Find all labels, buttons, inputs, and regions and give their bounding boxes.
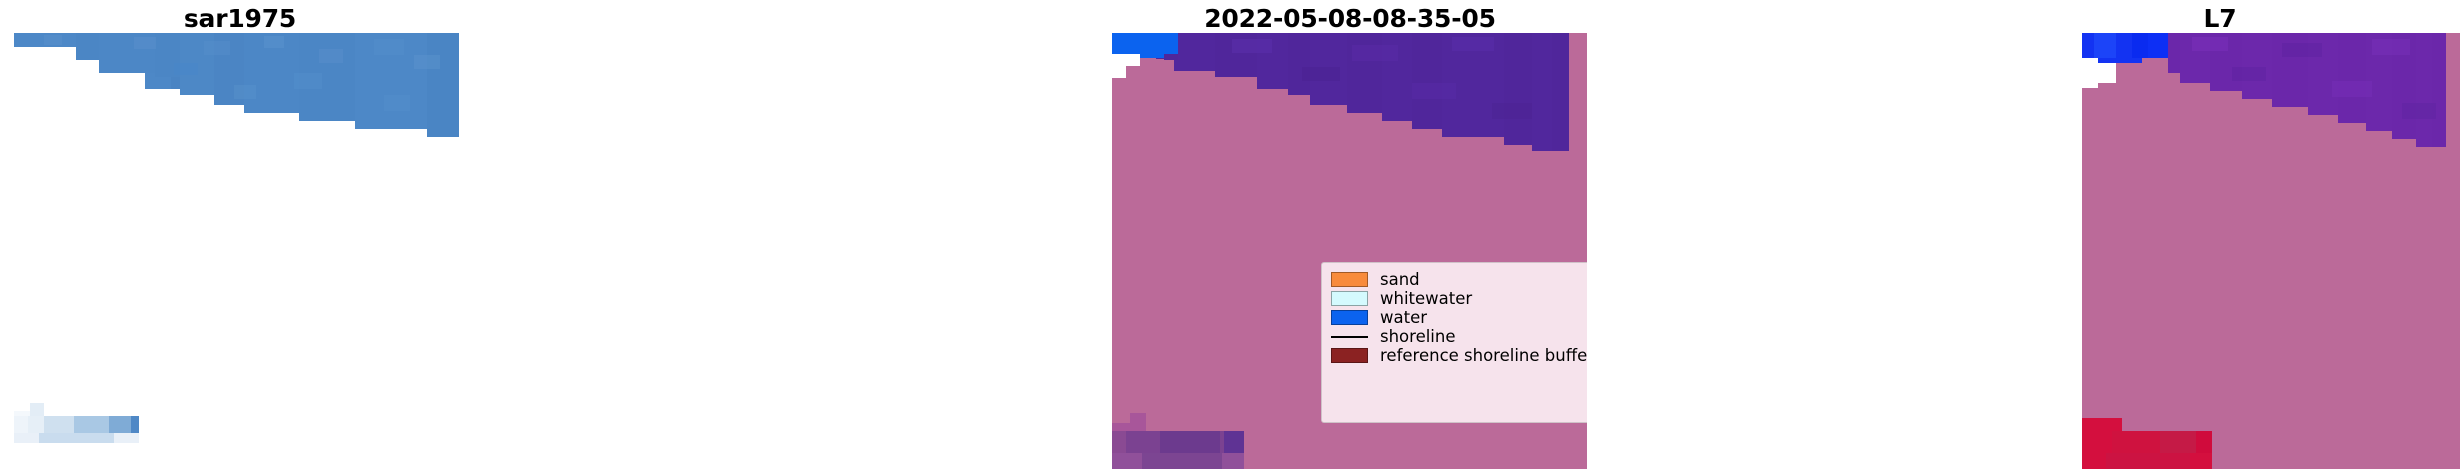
reference-shoreline-buffer (2160, 431, 2196, 453)
legend-item-sand[interactable]: sand (1331, 270, 1587, 289)
raster-sar1975 (14, 33, 459, 469)
water-texture (1492, 103, 1532, 119)
faint-water-strip (131, 416, 139, 433)
water-texture (2192, 37, 2228, 51)
land-bump (1126, 78, 1174, 92)
legend-label-sand: sand (1380, 270, 1420, 289)
land-bump (2116, 74, 2168, 88)
reference-shoreline-buffer (1224, 431, 1244, 453)
water-texture (1352, 45, 1398, 61)
water-texture (1232, 39, 1272, 53)
legend-item-water[interactable]: water (1331, 308, 1587, 327)
faint-water-strip (39, 433, 114, 443)
water-class-patch (2094, 33, 2116, 58)
water-right-tail (1552, 33, 1569, 151)
water-swatch (1331, 310, 1368, 325)
panel-title-L7: L7 (1980, 4, 2460, 34)
reference-shoreline-buffer (2196, 431, 2212, 453)
legend-label-water: water (1380, 308, 1427, 327)
water-texture (2332, 81, 2372, 97)
water-texture (1452, 37, 1494, 51)
water-texture (234, 85, 256, 99)
water-texture (414, 55, 440, 69)
water-texture (2402, 103, 2436, 119)
water-texture (294, 73, 322, 89)
water-texture (1302, 67, 1340, 81)
water-texture (384, 95, 410, 111)
water-texture (264, 36, 284, 48)
water-texture (374, 39, 404, 55)
water-texture (2232, 67, 2266, 81)
panel-L7: L7 (1980, 0, 2460, 469)
water-texture (2282, 43, 2322, 57)
legend-label-shoreline: shoreline (1380, 327, 1456, 346)
raster-L7 (2082, 33, 2460, 469)
nodata-notch (2082, 58, 2098, 88)
panel-2022-05-08-08-35-05: 2022-05-08-08-35-05 (1090, 0, 1610, 469)
faint-water-strip (109, 416, 131, 433)
reference-shoreline-buffer (1142, 453, 1222, 469)
reference-shoreline-buffer (1160, 431, 1220, 453)
reference-shoreline-buffer-swatch (1331, 348, 1368, 363)
water-right-tail (2432, 33, 2446, 147)
whitewater-swatch (1331, 291, 1368, 306)
land-right-margin (2446, 33, 2460, 469)
panel-title-sar1975: sar1975 (0, 4, 480, 34)
water-texture (134, 37, 156, 49)
axes-2022-05-08-08-35-05[interactable]: sand whitewater water shoreline referenc… (1112, 33, 1587, 469)
water-texture (2372, 39, 2410, 55)
legend-label-whitewater: whitewater (1380, 289, 1472, 308)
water-texture (1412, 83, 1456, 99)
panel-title-2022-05-08-08-35-05: 2022-05-08-08-35-05 (1090, 4, 1610, 34)
axes-L7[interactable] (2082, 33, 2460, 469)
sand-swatch (1331, 272, 1368, 287)
panel-sar1975: sar1975 (0, 0, 480, 469)
axes-sar1975[interactable] (14, 33, 459, 469)
reference-shoreline-buffer (2106, 453, 2190, 469)
legend-item-reference-shoreline-buffer[interactable]: reference shoreline buffer (1331, 346, 1587, 365)
shoreline-line-swatch (1331, 329, 1368, 344)
nodata-notch (1112, 58, 1126, 78)
water-class-patch (2132, 33, 2148, 58)
legend[interactable]: sand whitewater water shoreline referenc… (1321, 262, 1587, 423)
land-bump (2142, 58, 2168, 74)
legend-item-shoreline[interactable]: shoreline (1331, 327, 1587, 346)
figure-canvas: sar1975 (0, 0, 2460, 469)
legend-label-reference-shoreline-buffer: reference shoreline buffer (1380, 346, 1587, 365)
water-texture (44, 35, 62, 45)
water-texture (319, 49, 343, 63)
water-texture (174, 63, 198, 75)
water-block (427, 33, 459, 137)
water-texture (204, 41, 230, 55)
legend-item-whitewater[interactable]: whitewater (1331, 289, 1587, 308)
nodata-notch (1164, 54, 1178, 60)
